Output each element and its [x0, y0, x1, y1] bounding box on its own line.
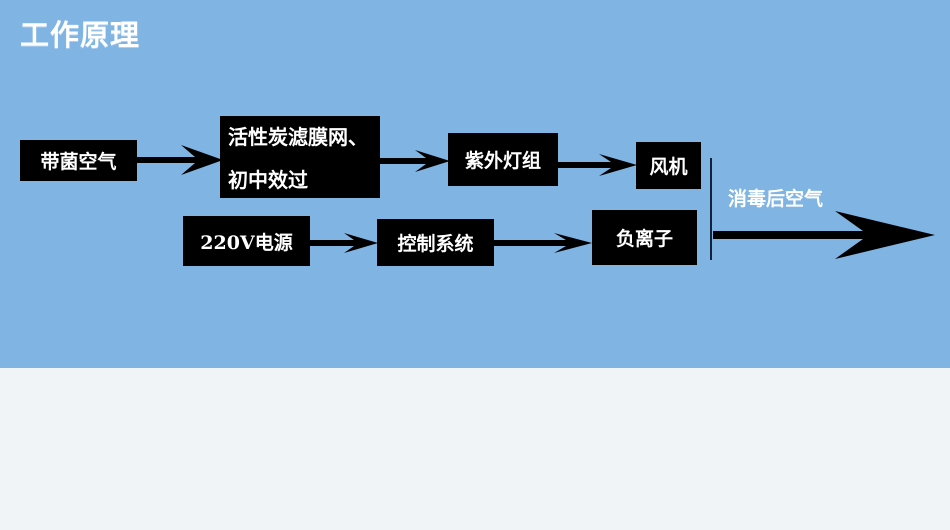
node-negative-ion[interactable]: 负离子 [592, 210, 697, 265]
arrow-output-air [713, 211, 935, 259]
page-title: 工作原理 [20, 16, 140, 54]
node-carbon-filter-label-line2: 初中效过 [228, 164, 308, 193]
arrow-control-to-negative-ion [494, 231, 592, 255]
node-carbon-filter[interactable]: 活性炭滤膜网、 初中效过 [220, 116, 380, 198]
node-intake-air-label: 带菌空气 [40, 147, 116, 174]
node-uv-lamp[interactable]: 紫外灯组 [448, 133, 558, 186]
node-uv-lamp-label: 紫外灯组 [465, 146, 541, 173]
node-carbon-filter-label-line1: 活性炭滤膜网、 [228, 121, 368, 150]
node-negative-ion-label: 负离子 [616, 224, 673, 251]
arrow-uv-to-fan [557, 152, 637, 178]
node-fan[interactable]: 风机 [636, 142, 701, 189]
arrow-power-to-control [310, 231, 378, 255]
arrow-intake-to-filter [137, 143, 223, 177]
output-collector-line [710, 158, 712, 260]
node-fan-label: 风机 [649, 152, 687, 179]
slide-canvas: 工作原理 带菌空气 活性炭滤膜网、 初中效过 紫外灯组 风机 220V电源 控制… [0, 0, 950, 530]
node-control-system-label: 控制系统 [397, 229, 473, 256]
node-power-supply[interactable]: 220V电源 [183, 216, 310, 266]
node-control-system[interactable]: 控制系统 [377, 219, 494, 266]
node-power-supply-label: 220V电源 [200, 228, 292, 255]
node-intake-air[interactable]: 带菌空气 [20, 140, 137, 181]
output-air-label: 消毒后空气 [728, 184, 823, 211]
arrow-filter-to-uv [380, 148, 450, 174]
